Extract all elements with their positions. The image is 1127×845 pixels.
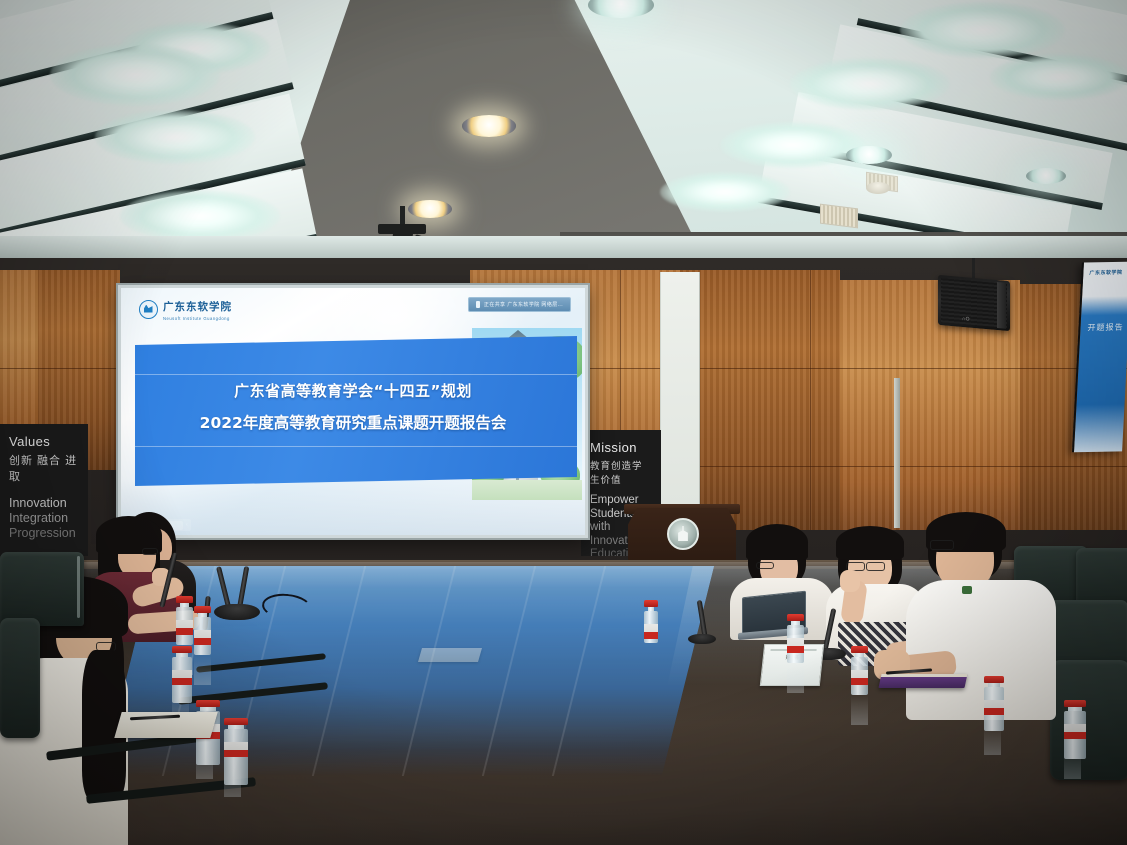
water-bottle — [224, 718, 248, 785]
share-badge-text: 正在共享 广东东软学院 网络层... — [484, 301, 563, 308]
values-line-3: Progression — [9, 526, 79, 541]
hair-top — [746, 524, 808, 560]
water-bottle — [172, 646, 192, 703]
wall-white-column — [660, 272, 700, 524]
water-bottle — [176, 596, 193, 645]
presentation-slide: 广东东软学院 Neusoft Institute Guangdong 正在共享 … — [121, 288, 585, 535]
values-line-1: Innovation — [9, 496, 79, 511]
glasses — [866, 562, 885, 571]
ceiling-downlight — [1026, 168, 1066, 184]
ceiling-downlight — [588, 0, 654, 18]
projection-screen: 广东东软学院 Neusoft Institute Guangdong 正在共享 … — [118, 285, 588, 538]
chair[interactable] — [0, 618, 40, 738]
school-emblem-icon — [667, 518, 699, 550]
wood-panel — [680, 270, 840, 530]
toolbar-collapse-icon[interactable]: ‹ — [186, 522, 188, 528]
ceiling-glow — [660, 172, 790, 212]
water-bottle — [644, 600, 658, 643]
mission-heading: Mission — [590, 440, 652, 455]
glasses — [930, 540, 954, 550]
torso — [906, 580, 1056, 720]
water-bottle — [851, 646, 868, 695]
meeting-room-photo: Values 创新 融合 进取 Innovation Integration P… — [0, 0, 1127, 845]
ceiling-glow — [790, 58, 950, 110]
mission-heading-cn: 教育创造学生价值 — [590, 458, 652, 486]
chair[interactable] — [1050, 660, 1127, 780]
values-line-2: Integration — [9, 511, 79, 526]
hair-top — [836, 526, 904, 560]
banner-logo-text: 广东东软学院 — [1089, 269, 1122, 277]
ceiling-glow — [720, 122, 865, 168]
institution-logo-icon — [139, 300, 158, 319]
wall-panel-values: Values 创新 融合 进取 Innovation Integration P… — [0, 424, 88, 556]
water-bottle — [1064, 700, 1086, 759]
share-icon — [476, 301, 480, 308]
microphone-base — [688, 634, 716, 644]
water-bottle — [984, 676, 1004, 731]
ceiling-glow — [900, 2, 1065, 58]
water-bottle — [194, 606, 211, 655]
ceiling-downlight — [462, 115, 516, 137]
ceiling-downlight — [408, 200, 452, 218]
slide-title-line-1: 广东省高等教育学会“十四五”规划 — [121, 380, 585, 401]
rollup-banner: 广东东软学院 开题报告 — [1072, 262, 1127, 453]
door-frame — [894, 378, 900, 528]
ceiling-glow — [95, 110, 255, 164]
water-bottle — [787, 614, 804, 663]
values-heading: Values — [9, 434, 79, 449]
values-heading-cn: 创新 融合 进取 — [9, 452, 79, 484]
paper-sheet — [418, 648, 482, 662]
glasses — [756, 562, 774, 569]
screen-share-badge: 正在共享 广东东软学院 网络层... — [468, 297, 571, 312]
institution-name-en: Neusoft Institute Guangdong — [163, 316, 232, 321]
ceiling-glow — [120, 190, 280, 242]
hand — [840, 570, 860, 592]
notebook — [879, 674, 968, 688]
slide-logo: 广东东软学院 Neusoft Institute Guangdong — [139, 297, 232, 321]
smoke-detector — [866, 182, 890, 194]
chair[interactable] — [0, 552, 84, 626]
slide-title-line-2: 2022年度高等教育研究重点课题开题报告会 — [121, 411, 585, 433]
microphone-base — [214, 604, 260, 620]
ceiling-downlight — [846, 146, 892, 164]
ceiling-air-vent — [820, 204, 858, 229]
ceiling-glow — [50, 44, 220, 106]
institution-name-cn: 广东东软学院 — [163, 301, 232, 313]
shirt-logo — [962, 586, 972, 594]
banner-text: 开题报告 — [1087, 322, 1124, 335]
ceiling-glow — [990, 54, 1127, 100]
glasses — [142, 548, 158, 555]
